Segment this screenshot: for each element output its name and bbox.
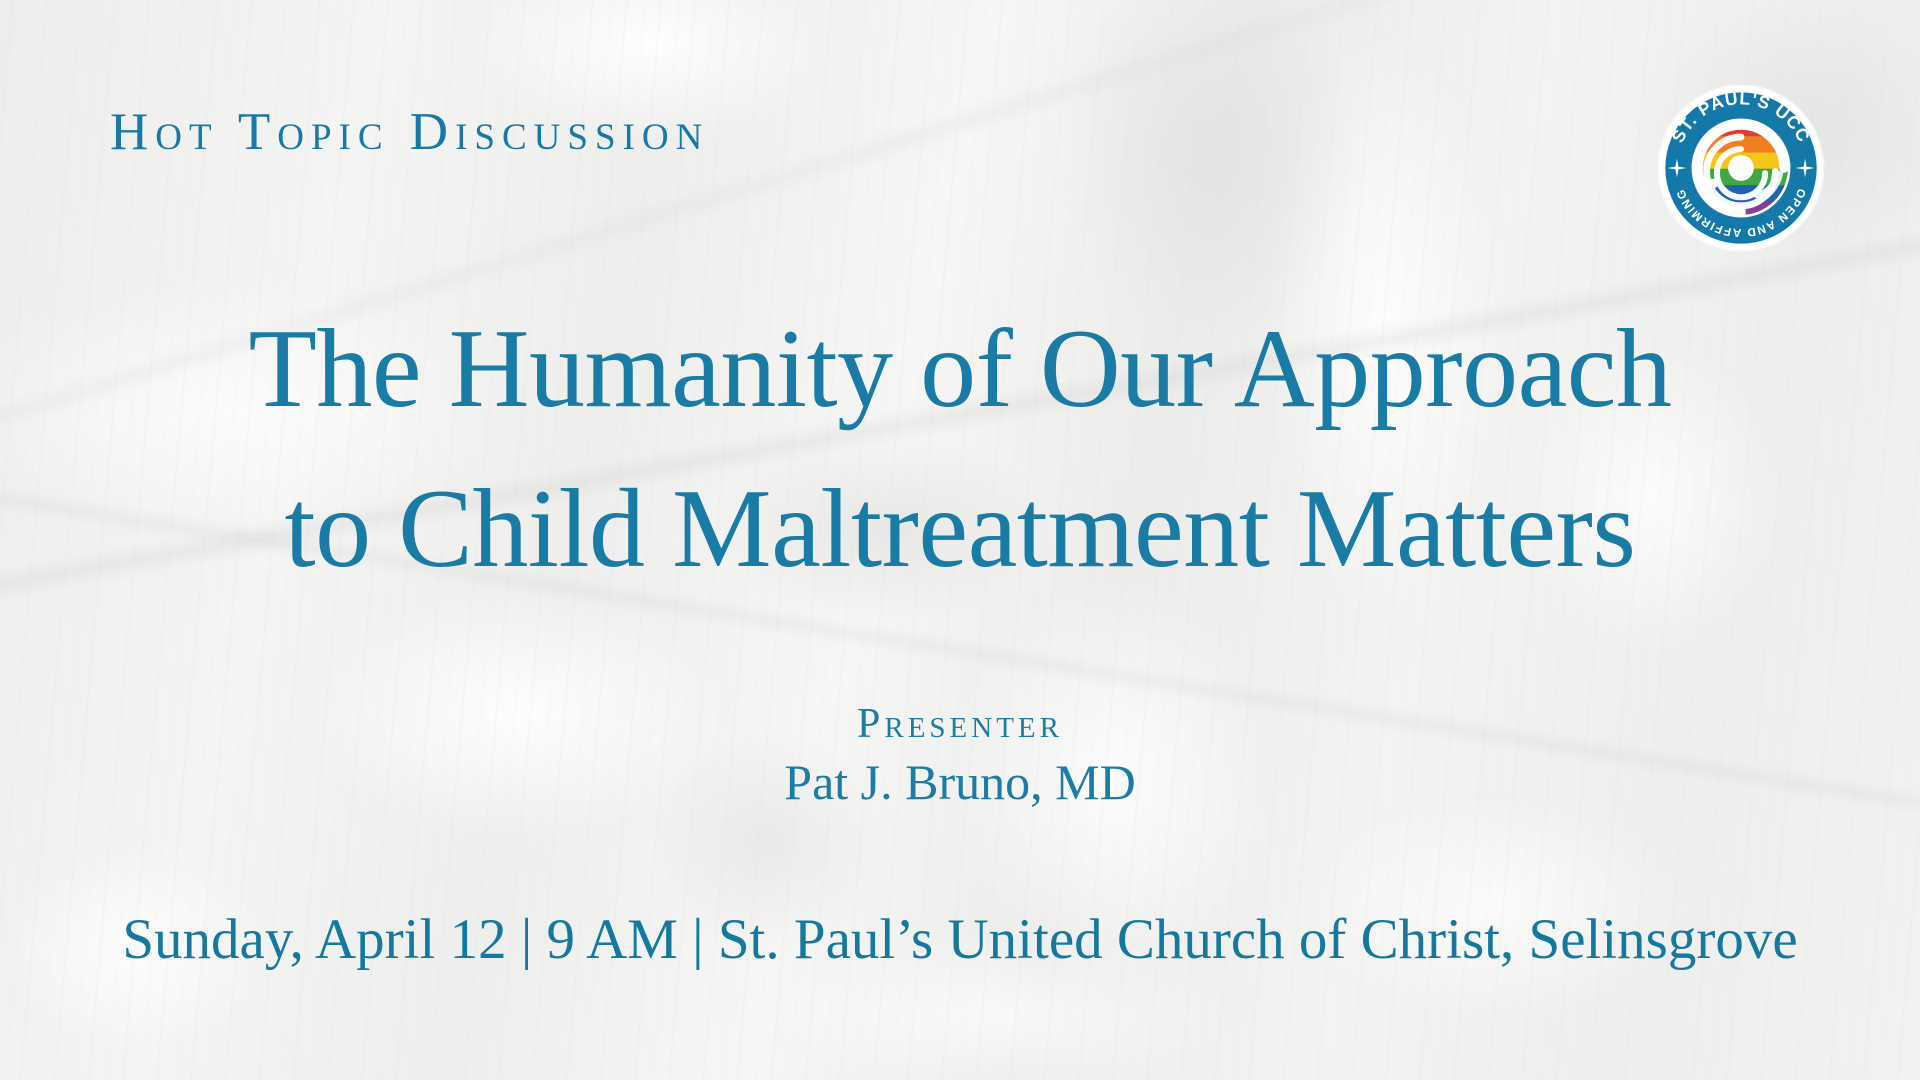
event-slide: Hot Topic Discussion — [0, 0, 1920, 1080]
title-line-1: The Humanity of Our Approach — [0, 294, 1920, 444]
page-title: The Humanity of Our Approach to Child Ma… — [0, 294, 1920, 604]
presenter-name: Pat J. Bruno, MD — [0, 750, 1920, 815]
presenter-block: Presenter Pat J. Bruno, MD — [0, 702, 1920, 815]
presenter-label: Presenter — [0, 702, 1920, 746]
eyebrow-label: Hot Topic Discussion — [110, 106, 709, 159]
event-details-line: Sunday, April 12 | 9 AM | St. Paul’s Uni… — [0, 906, 1920, 974]
st-pauls-ucc-logo: ST. PAUL'S UCC OPEN AND AFFIRMING — [1655, 82, 1827, 254]
title-line-2: to Child Maltreatment Matters — [0, 454, 1920, 604]
